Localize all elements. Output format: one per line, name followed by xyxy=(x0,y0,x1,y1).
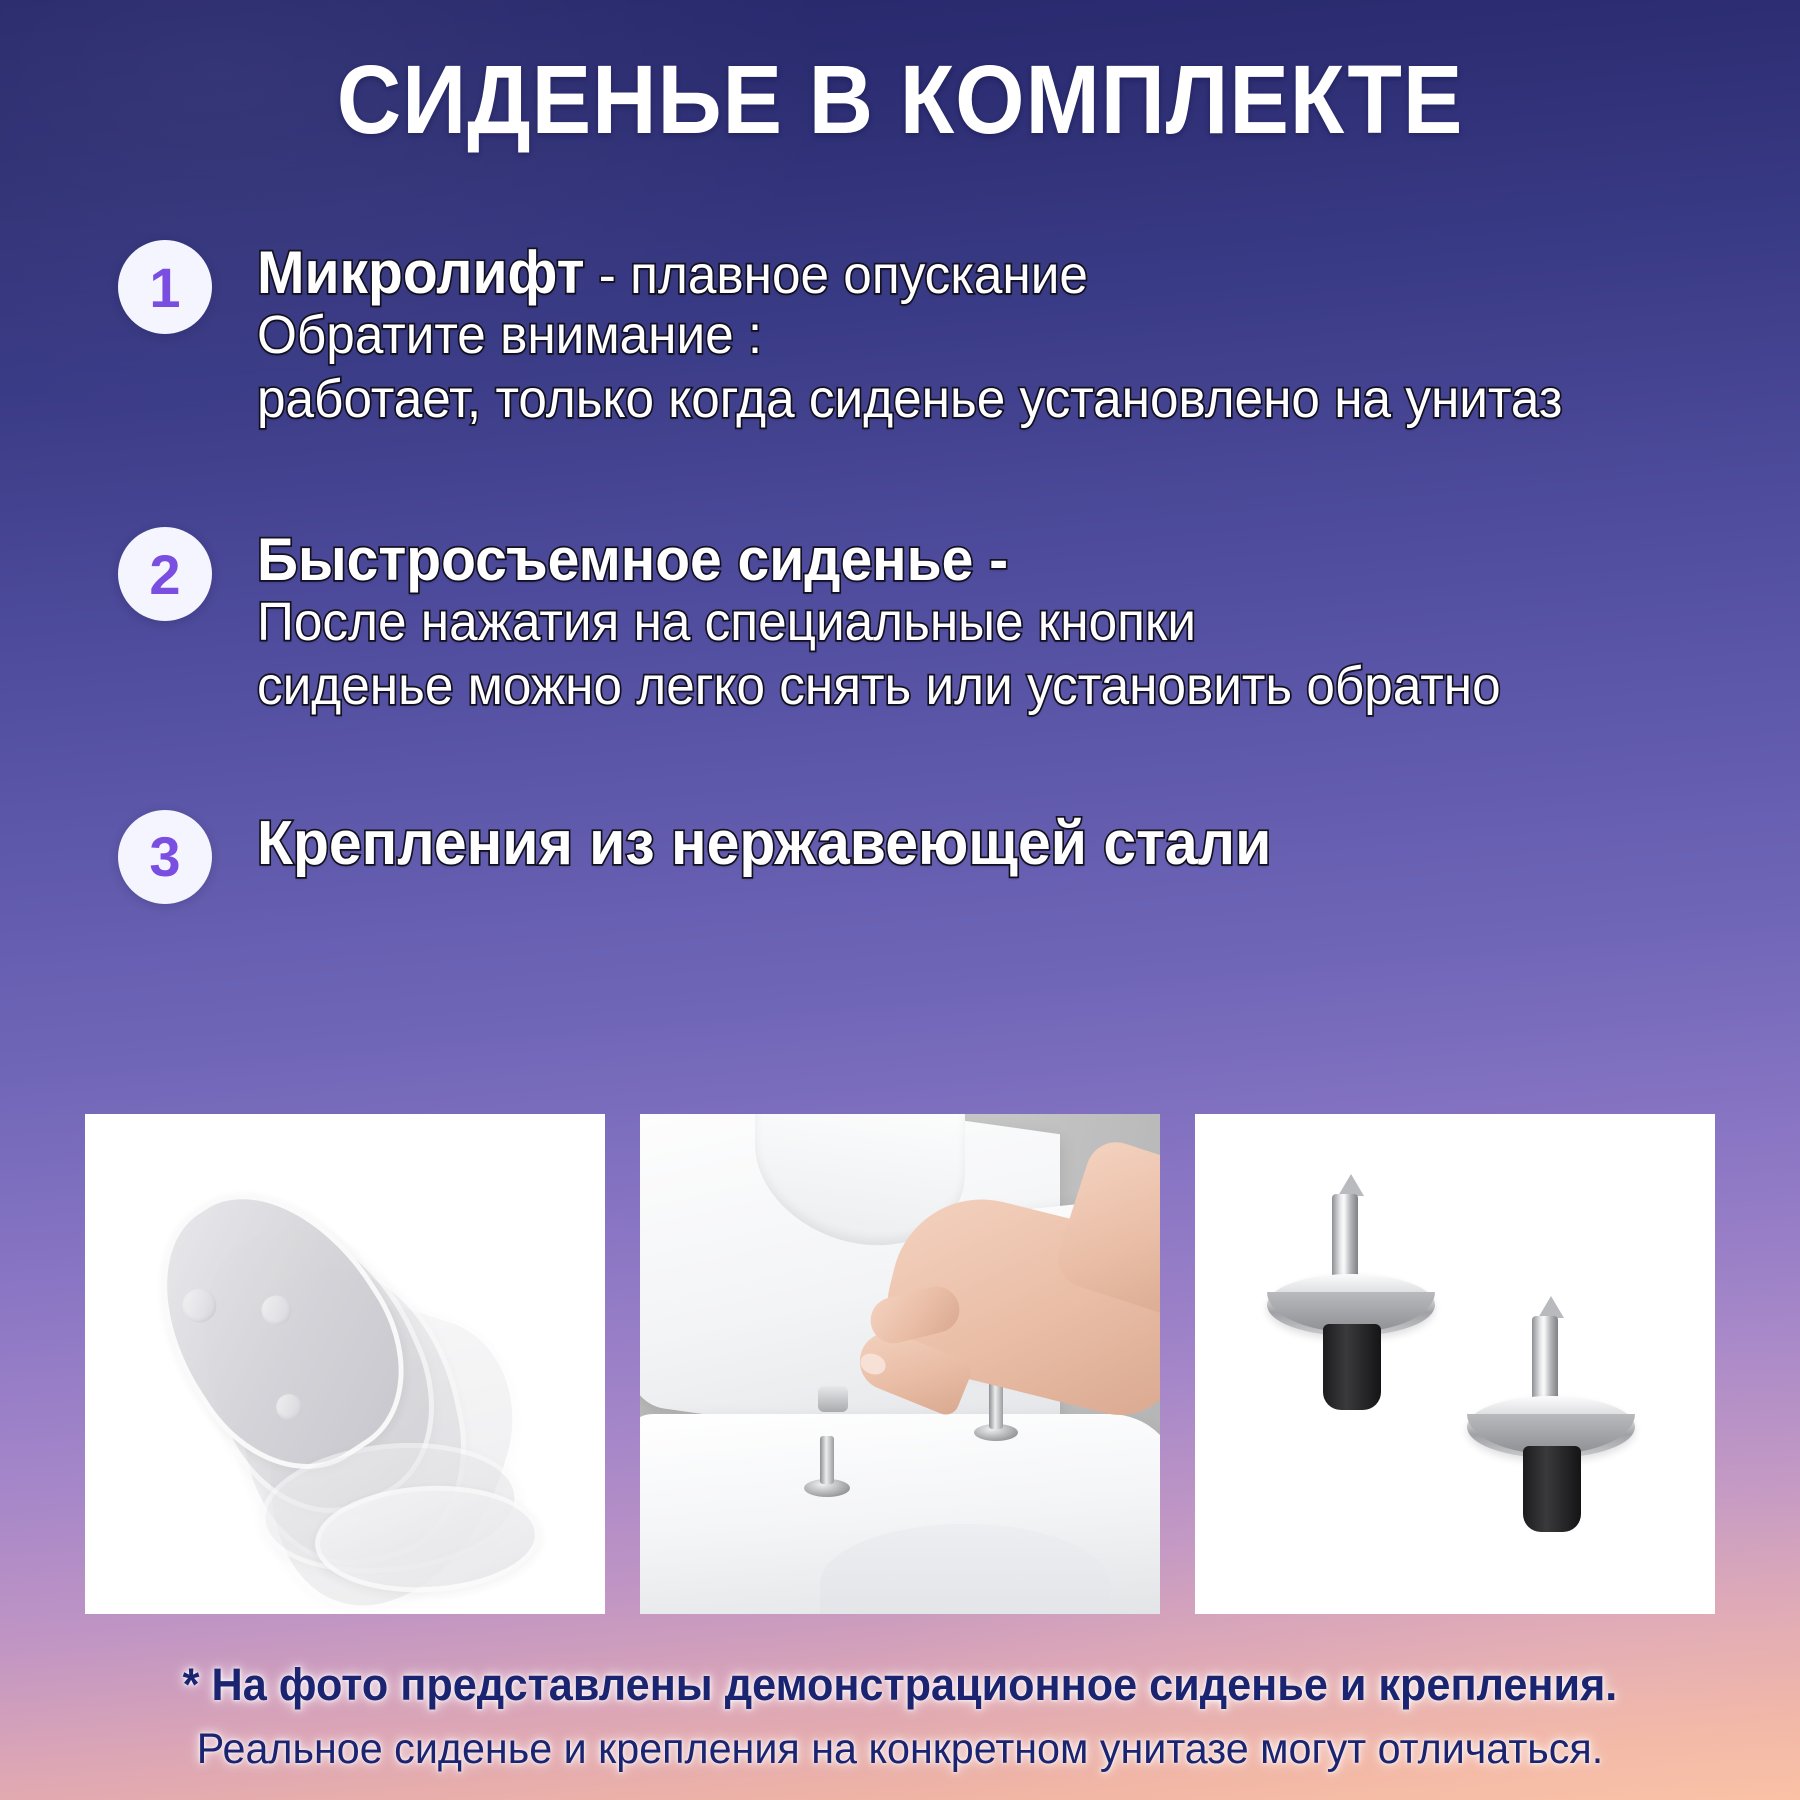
photo-toilet-seat-soft-close-sequence xyxy=(85,1114,605,1614)
footer-line-1: * На фото представлены демонстрационное … xyxy=(36,1659,1764,1711)
page-title: СИДЕНЬЕ В КОМПЛЕКТЕ xyxy=(72,44,1728,156)
photo2-bolt-left xyxy=(820,1436,834,1484)
photo-stainless-steel-seat-fixings xyxy=(1195,1114,1715,1614)
feature-list: 1 Микролифт - плавное опускание Обратите… xyxy=(0,240,1800,904)
feature-text-3: Крепления из нержавеющей стали xyxy=(257,810,1325,875)
feature-heading-3: Крепления из нержавеющей стали xyxy=(257,812,1271,875)
footer-disclaimer: * На фото представлены демонстрационное … xyxy=(0,1659,1800,1774)
feature-heading-light-1: - плавное опускание xyxy=(585,245,1088,305)
feature-text-2: Быстросъемное сиденье - После нажатия на… xyxy=(257,527,1566,717)
photo-hand-pressing-quick-release-button xyxy=(640,1114,1160,1614)
photo2-bolt-right xyxy=(989,1382,1003,1429)
feature-item-2: 2 Быстросъемное сиденье - После нажатия … xyxy=(0,527,1800,717)
feature-heading-strong-1: Микролифт xyxy=(257,239,585,306)
feature-subline-2-0: После нажатия на специальные кнопки xyxy=(257,592,1501,654)
feature-heading-strong-2: Быстросъемное сиденье - xyxy=(257,526,1008,593)
photo-gallery xyxy=(0,1114,1800,1614)
feature-subline-1-0: Обратите внимание : xyxy=(257,305,1562,367)
feature-number-badge-2: 2 xyxy=(118,527,212,621)
feature-subline-1-1: работает, только когда сиденье установле… xyxy=(257,369,1562,431)
footer-line-2: Реальное сиденье и крепления на конкретн… xyxy=(36,1725,1764,1774)
photo2-hinge-cap xyxy=(818,1386,848,1412)
feature-heading-strong-3: Крепления из нержавеющей стали xyxy=(257,809,1271,878)
feature-subline-2-1: сиденье можно легко снять или установить… xyxy=(257,656,1501,718)
feature-item-1: 1 Микролифт - плавное опускание Обратите… xyxy=(0,240,1800,430)
feature-number-badge-3: 3 xyxy=(118,810,212,904)
feature-heading-1: Микролифт - плавное опускание xyxy=(257,242,1562,303)
feature-text-1: Микролифт - плавное опускание Обратите в… xyxy=(257,240,1631,430)
product-infographic-poster: СИДЕНЬЕ В КОМПЛЕКТЕ 1 Микролифт - плавно… xyxy=(0,0,1800,1800)
feature-item-3: 3 Крепления из нержавеющей стали xyxy=(0,810,1800,904)
feature-number-badge-1: 1 xyxy=(118,240,212,334)
feature-heading-2: Быстросъемное сиденье - xyxy=(257,529,1501,590)
